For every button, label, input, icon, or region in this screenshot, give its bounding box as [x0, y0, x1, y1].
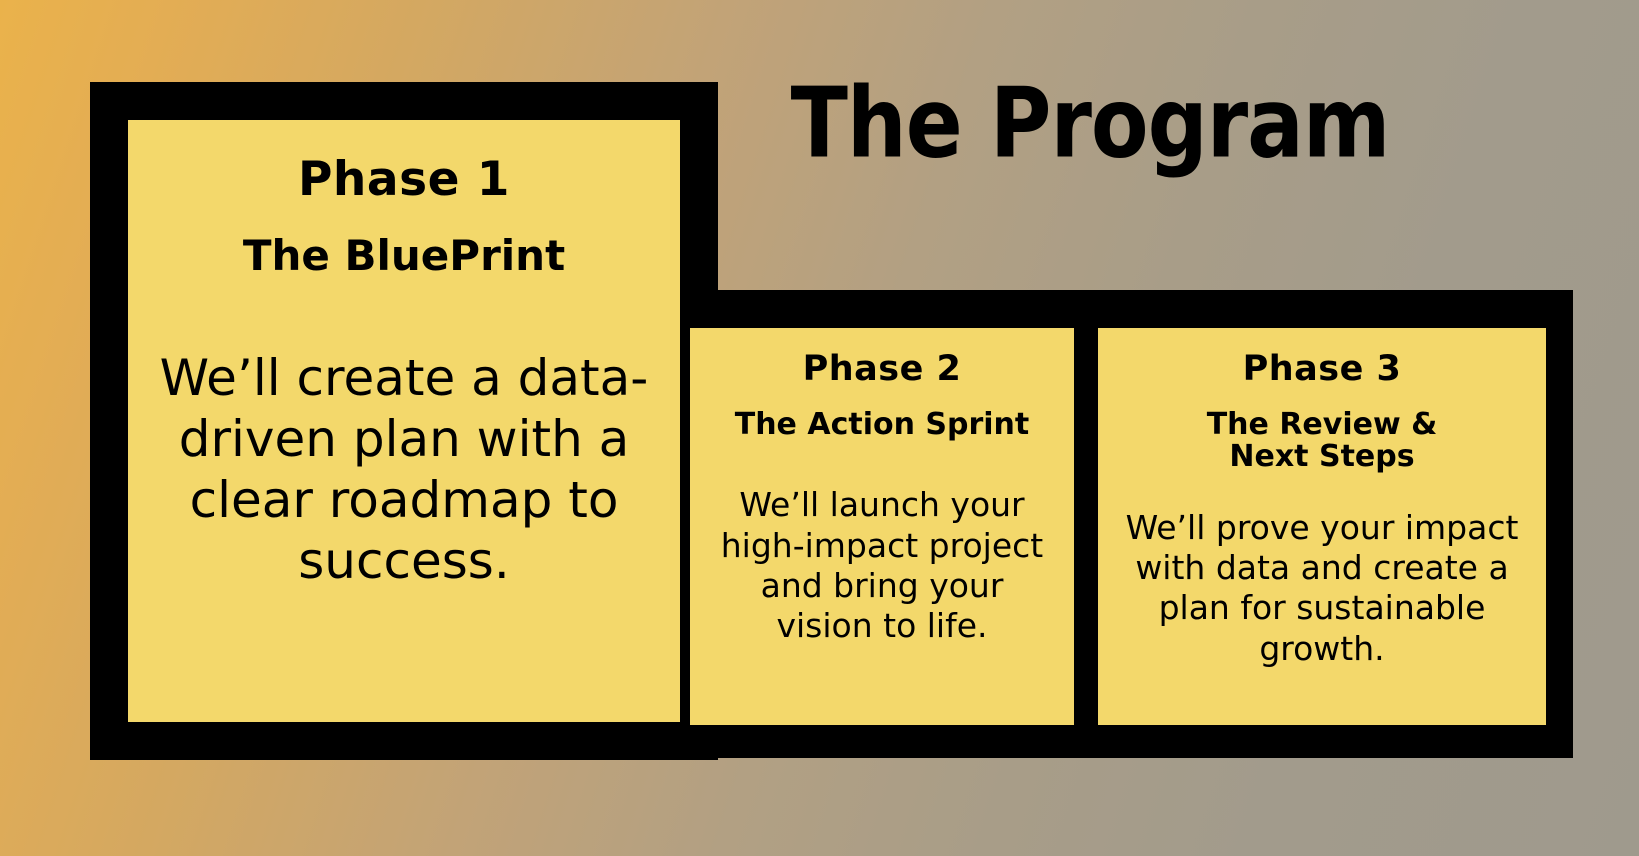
phase-2-heading: Phase 2 — [803, 352, 962, 387]
phase-1-card[interactable]: Phase 1 The BluePrint We’ll create a dat… — [128, 120, 680, 722]
phase-3-body: We’ll prove your impact with data and cr… — [1122, 508, 1522, 669]
phase-3-card[interactable]: Phase 3 The Review & Next Steps We’ll pr… — [1098, 328, 1546, 725]
phase-1-body: We’ll create a data-driven plan with a c… — [159, 348, 649, 592]
phase-3-subtitle: The Review & Next Steps — [1207, 409, 1438, 474]
phase-2-card[interactable]: Phase 2 The Action Sprint We’ll launch y… — [690, 328, 1074, 725]
phase-2-body: We’ll launch your high-impact project an… — [717, 485, 1047, 646]
infographic-canvas: The Program Phase 1 The BluePrint We’ll … — [0, 0, 1639, 856]
phase-1-heading: Phase 1 — [298, 156, 510, 203]
page-title: The Program — [740, 72, 1440, 174]
phase-1-subtitle: The BluePrint — [243, 233, 565, 278]
phase-3-heading: Phase 3 — [1243, 352, 1402, 387]
phase-2-subtitle: The Action Sprint — [735, 409, 1030, 441]
